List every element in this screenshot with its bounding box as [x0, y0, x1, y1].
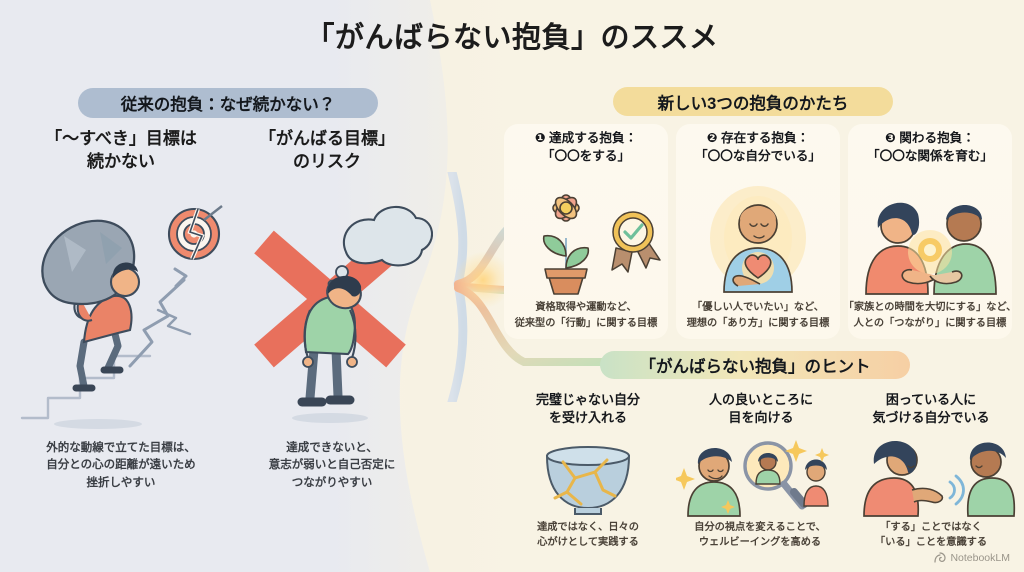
section-pill-new-forms: 新しい3つの抱負のかたち	[613, 87, 893, 116]
left-caption-1-line3: 挫折しやすい	[14, 475, 228, 492]
hint-1-title-line2: を受け入れる	[503, 409, 673, 427]
hint-2-heading: 人の良いところに 目を向ける	[676, 391, 846, 428]
left-heading-2: 「がんばる目標」 のリスク	[228, 128, 426, 174]
kintsugi-bowl-icon	[503, 434, 673, 519]
hint-3-caption: 「する」ことではなく 「いる」ことを意識する	[841, 520, 1021, 551]
concept-card-1-title-line1: ❶ 達成する抱負：	[504, 130, 668, 148]
hint-1-caption-line1: 達成ではなく、日々の	[498, 520, 678, 535]
left-heading-1: 「〜すべき」目標は 続かない	[22, 128, 220, 174]
potted-flower-award-ribbon-icon	[504, 186, 668, 296]
hint-1-caption: 達成ではなく、日々の 心がけとして実践する	[498, 520, 678, 551]
left-caption-2-line3: つながりやすい	[232, 475, 432, 492]
hint-2-caption-line1: 自分の視点を変えることで、	[670, 520, 850, 535]
left-caption-1: 外的な動線で立てた目標は、 自分との心の距離が遠いため 挫折しやすい	[14, 440, 228, 492]
concept-card-1-caption-line1: 資格取得や運動など、	[498, 300, 674, 316]
concept-card-3-number: ❸	[885, 131, 896, 145]
left-caption-2: 達成できないと、 意志が弱いと自己否定に つながりやすい	[232, 440, 432, 492]
concept-card-1-caption: 資格取得や運動など、 従来型の「行動」に関する目標	[498, 300, 674, 331]
hint-2-title-line2: 目を向ける	[676, 409, 846, 427]
magnifying-glass-people-sparkles-icon	[676, 434, 846, 519]
concept-card-3-caption-line2: 人との「つながり」に関する目標	[842, 316, 1018, 332]
concept-card-1-title-line2: 「〇〇をする」	[504, 148, 668, 166]
concept-card-3-caption-line1: 「家族との時間を大切にする」など、	[842, 300, 1018, 316]
concept-card-3-heading: ❸ 関わる抱負： 「〇〇な関係を育む」	[848, 130, 1012, 166]
concept-card-2-title-line1: ❷ 存在する抱負：	[676, 130, 840, 148]
concept-card-1-heading: ❶ 達成する抱負： 「〇〇をする」	[504, 130, 668, 166]
left-heading-1-line1: 「〜すべき」目標は	[22, 128, 220, 151]
left-caption-1-line1: 外的な動線で立てた目標は、	[14, 440, 228, 457]
concept-card-3-title-line1: ❸ 関わる抱負：	[848, 130, 1012, 148]
hint-3-heading: 困っている人に 気づける自分でいる	[846, 391, 1016, 428]
dejected-person-red-cross-thought-cloud-icon	[228, 190, 433, 435]
hint-2-caption: 自分の視点を変えることで、 ウェルビーイングを高める	[670, 520, 850, 551]
person-carrying-rock-uphill-broken-target-icon	[18, 190, 223, 435]
concept-card-1-number: ❶	[535, 131, 546, 145]
watermark-label: NotebookLM	[950, 552, 1010, 564]
concept-card-3-title-line2: 「〇〇な関係を育む」	[848, 148, 1012, 166]
left-heading-2-line1: 「がんばる目標」	[228, 128, 426, 151]
page-title: 「がんばらない抱負」のススメ	[0, 14, 1024, 56]
left-caption-2-line2: 意志が弱いと自己否定に	[232, 457, 432, 474]
hint-1-heading: 完璧じゃない自分 を受け入れる	[503, 391, 673, 428]
notebooklm-spiral-icon	[934, 552, 946, 564]
concept-card-2-caption-line2: 理想の「あり方」に関する目標	[670, 316, 846, 332]
concept-card-2-number: ❷	[707, 131, 718, 145]
concept-card-3-caption: 「家族との時間を大切にする」など、 人との「つながり」に関する目標	[842, 300, 1018, 331]
section-pill-traditional: 従来の抱負：なぜ続かない？	[78, 88, 378, 118]
concept-card-2-title-line2: 「〇〇な自分でいる」	[676, 148, 840, 166]
left-caption-2-line1: 達成できないと、	[232, 440, 432, 457]
hint-1-caption-line2: 心がけとして実践する	[498, 535, 678, 550]
hint-3-title-line2: 気づける自分でいる	[846, 409, 1016, 427]
two-people-sharing-light-icon	[848, 186, 1012, 296]
thought-cloud	[328, 207, 432, 288]
left-caption-1-line2: 自分との心の距離が遠いため	[14, 457, 228, 474]
watermark: NotebookLM	[934, 552, 1010, 564]
left-heading-2-line2: のリスク	[228, 151, 426, 174]
section-pill-hints: 「がんばらない抱負」のヒント	[600, 351, 910, 379]
left-heading-1-line2: 続かない	[22, 151, 220, 174]
infographic-canvas: 「がんばらない抱負」のススメ 従来の抱負：なぜ続かない？ 「〜すべき」目標は 続…	[0, 0, 1024, 572]
concept-card-2-caption-line1: 「優しい人でいたい」など、	[670, 300, 846, 316]
concept-card-2-heading: ❷ 存在する抱負： 「〇〇な自分でいる」	[676, 130, 840, 166]
concept-card-2-title-a: 存在する抱負：	[721, 131, 809, 145]
concept-card-2-caption: 「優しい人でいたい」など、 理想の「あり方」に関する目標	[670, 300, 846, 331]
hint-2-caption-line2: ウェルビーイングを高める	[670, 535, 850, 550]
hint-3-title-line1: 困っている人に	[846, 391, 1016, 409]
person-glowing-heart-icon	[676, 186, 840, 296]
hint-3-caption-line2: 「いる」ことを意識する	[841, 535, 1021, 550]
concept-card-1-caption-line2: 従来型の「行動」に関する目標	[498, 316, 674, 332]
concept-card-1-title-a: 達成する抱負：	[549, 131, 637, 145]
hint-3-caption-line1: 「する」ことではなく	[841, 520, 1021, 535]
hint-2-title-line1: 人の良いところに	[676, 391, 846, 409]
concept-card-3-title-a: 関わる抱負：	[899, 131, 975, 145]
hint-1-title-line1: 完璧じゃない自分	[503, 391, 673, 409]
two-people-listening-signal-icon	[846, 434, 1016, 519]
